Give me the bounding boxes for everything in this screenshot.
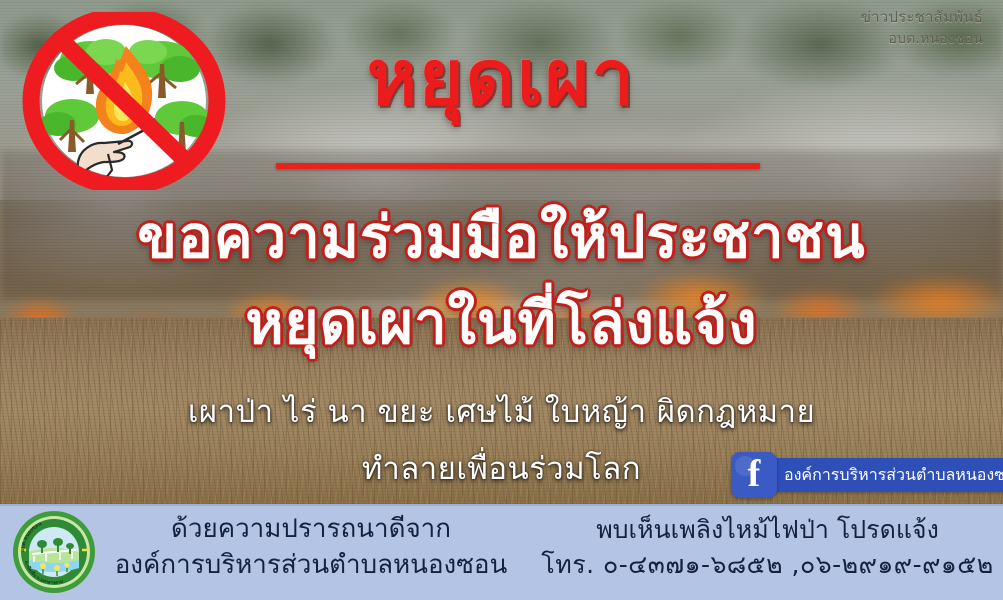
burning-prohibition-poster: ข่าวประชาสัมพันธ์ อบต.หนองซอน หยุดเผา ขอ…	[0, 0, 1003, 600]
facebook-page-name[interactable]: องค์การบริหารส่วนตำบลหนองซอน	[771, 458, 1003, 492]
footer-right-line1: พบเห็นเพลิงไหม้ไฟป่า โปรดแจ้ง	[540, 512, 995, 547]
sub-message-line-1: เผาป่า ไร่ นา ขยะ เศษไม้ ใบหญ้า ผิดกฎหมา…	[0, 386, 1003, 436]
footer-left-line2: องค์การบริหารส่วนตำบลหนองซอน	[96, 548, 526, 584]
official-seal-icon: อบต.หนองซอน อ.เชียงยืน จ.มหาสารคาม	[12, 510, 96, 594]
title-divider	[276, 163, 760, 169]
footer-left-line1: ด้วยความปรารถนาดีจาก	[96, 512, 526, 548]
facebook-f-icon[interactable]: f	[731, 452, 777, 498]
facebook-f-glyph: f	[731, 452, 777, 498]
page-title: หยุดเผา	[0, 18, 1003, 138]
footer-phone-number: โทร. ๐-๔๓๗๑-๖๘๕๒ ,๐๖-๒๙๑๙-๙๑๕๒	[540, 547, 995, 582]
footer-right-text: พบเห็นเพลิงไหม้ไฟป่า โปรดแจ้ง โทร. ๐-๔๓๗…	[540, 512, 995, 582]
message-line-2: หยุดเผาในที่โล่งแจ้ง	[0, 276, 1003, 369]
message-line-1: ขอความร่วมมือให้ประชาชน	[0, 190, 1003, 283]
footer-left-text: ด้วยความปรารถนาดีจาก องค์การบริหารส่วนตำ…	[96, 512, 526, 584]
facebook-badge[interactable]: f องค์การบริหารส่วนตำบลหนองซอน	[731, 452, 1003, 498]
